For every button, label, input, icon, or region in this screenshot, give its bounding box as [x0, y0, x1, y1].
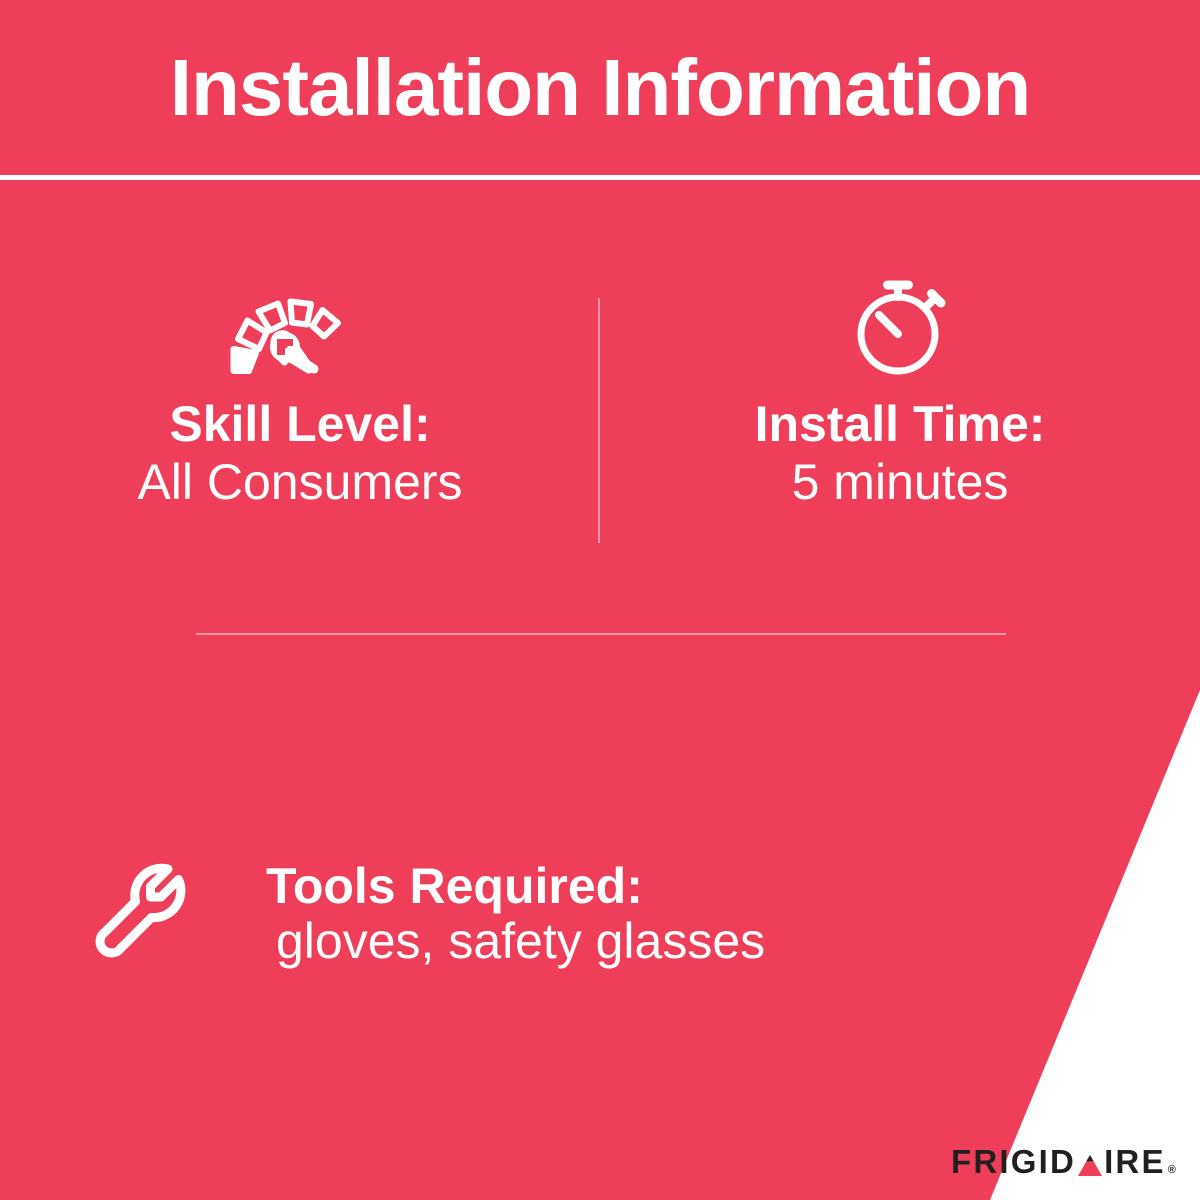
skill-gauge-icon [230, 280, 370, 375]
header-bar: Installation Information [0, 0, 1200, 175]
install-time-label: Install Time: [755, 397, 1046, 451]
section-divider [196, 633, 1006, 635]
logo-text-part2: IRE [1104, 1145, 1166, 1178]
logo-text-part1: FRIGID [951, 1145, 1076, 1178]
tools-required-value: gloves, safety glasses [266, 914, 765, 969]
tools-required-row: Tools Required: gloves, safety glasses [80, 855, 765, 973]
logo-triangle-a-icon [1077, 1150, 1103, 1176]
stat-skill-level: Skill Level: All Consumers [0, 280, 600, 550]
stats-row: Skill Level: All Consumers [0, 280, 1200, 550]
red-background [0, 0, 1200, 1200]
tools-text-block: Tools Required: gloves, safety glasses [266, 859, 765, 969]
installation-information-infographic: Installation Information [0, 0, 1200, 1200]
header-divider [0, 175, 1200, 180]
wrench-icon [80, 855, 198, 973]
tools-required-label: Tools Required: [266, 859, 765, 914]
logo-wordmark: FRIGID IRE ® [951, 1145, 1178, 1178]
install-time-value: 5 minutes [792, 455, 1009, 509]
skill-level-value: All Consumers [137, 455, 462, 509]
frigidaire-logo: FRIGID IRE ® [951, 1145, 1178, 1178]
column-divider [598, 298, 600, 543]
skill-level-label: Skill Level: [169, 397, 430, 451]
stopwatch-icon [848, 280, 952, 375]
stat-install-time: Install Time: 5 minutes [600, 280, 1200, 550]
logo-registered-mark: ® [1168, 1165, 1178, 1178]
page-title: Installation Information [170, 48, 1030, 128]
